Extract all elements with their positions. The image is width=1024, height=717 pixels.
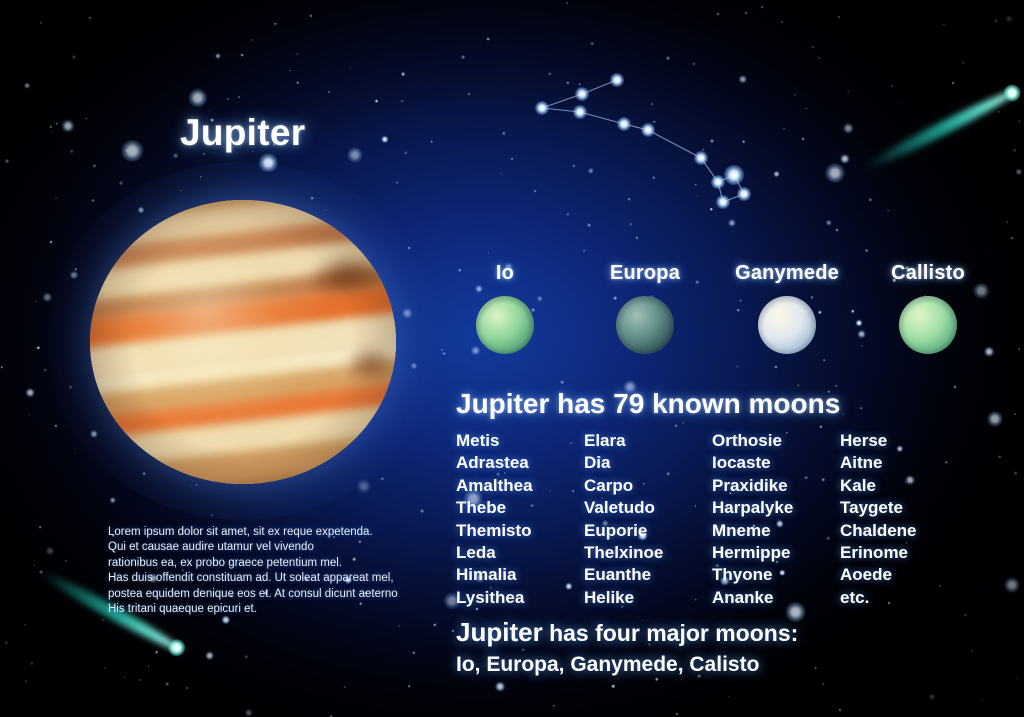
constellation-star [535,101,549,115]
major-moon-io: Io [440,262,570,354]
moon-name-item: Helike [584,587,663,609]
constellation-star [711,175,725,189]
description-paragraph: Lorem ipsum dolor sit amet, sit ex reque… [108,525,413,617]
moon-name-item: Taygete [840,497,917,519]
moon-name-item: Iocaste [712,452,793,474]
major-moon-sphere [476,296,534,354]
major-moon-label: Europa [580,262,710,285]
constellation-star [716,195,730,209]
footer-line-1-rest: has four major moons: [543,620,799,646]
constellation-star [617,117,631,131]
constellation-star [573,105,587,119]
footer-line-1: Jupiter has four major moons: [456,617,798,648]
moon-name-item: Aitne [840,452,917,474]
moon-name-item: Euporie [584,520,663,542]
constellation-star [610,73,624,87]
jupiter-shading [90,200,396,484]
moon-name-item: Themisto [456,520,533,542]
moon-name-item: Chaldene [840,520,917,542]
moon-shading [476,296,534,354]
moon-name-item: Harpalyke [712,497,793,519]
moon-name-item: Amalthea [456,475,533,497]
constellation-star [737,187,751,201]
moon-name-item: Euanthe [584,564,663,586]
moon-name-item: Lysithea [456,587,533,609]
jupiter-planet [78,196,408,486]
moon-name-item: Elara [584,430,663,452]
moon-name-item: Dia [584,452,663,474]
moon-shading [899,296,957,354]
description-line: His tritani quaeque epicuri et. [108,602,413,617]
moon-name-item: Praxidike [712,475,793,497]
moon-name-item: Ananke [712,587,793,609]
constellation-star [724,165,744,185]
moon-name-item: Erinome [840,542,917,564]
footer-emphasis: Jupiter [456,617,543,647]
moon-shading [758,296,816,354]
major-moon-label: Io [440,262,570,285]
major-moon-sphere [899,296,957,354]
constellation-graphic [520,72,730,207]
moon-name-item: Aoede [840,564,917,586]
major-moon-label: Ganymede [722,262,852,285]
moon-name-item: Himalia [456,564,533,586]
footer-line-2: Io, Europa, Ganymede, Calisto [456,653,798,677]
constellation-star [641,123,655,137]
major-moon-ganymede: Ganymede [722,262,852,354]
moon-count-headline: Jupiter has 79 known moons [456,388,840,420]
constellation-star [694,151,708,165]
moon-column: MetisAdrasteaAmaltheaThebeThemistoLedaHi… [456,430,533,609]
constellation-star [575,87,589,101]
moon-name-item: Thebe [456,497,533,519]
moon-name-item: Hermippe [712,542,793,564]
major-moon-sphere [758,296,816,354]
constellation-lines [520,72,730,207]
description-line: Lorem ipsum dolor sit amet, sit ex reque… [108,525,413,540]
moon-name-item: Thelxinoe [584,542,663,564]
jupiter-sphere [90,200,396,484]
major-moon-sphere [616,296,674,354]
major-moons-row: IoEuropaGanymedeCallisto [440,262,1000,380]
major-moon-europa: Europa [580,262,710,354]
moon-column: HerseAitneKaleTaygeteChaldeneErinomeAoed… [840,430,917,609]
major-moon-callisto: Callisto [863,262,993,354]
description-line: Has duis offendit constituam ad. Ut sole… [108,571,413,586]
description-line: postea equidem denique eos et. At consul… [108,587,413,602]
page-title: Jupiter [180,112,305,154]
moon-name-item: Herse [840,430,917,452]
major-moon-label: Callisto [863,262,993,285]
moon-name-item: Thyone [712,564,793,586]
moon-name-item: Orthosie [712,430,793,452]
major-moons-footer: Jupiter has four major moons: Io, Europa… [456,617,798,677]
moon-name-item: Valetudo [584,497,663,519]
jupiter-infographic: Jupiter IoEuropaGanymedeCallisto Jupiter… [0,0,1024,717]
moon-name-item: Mneme [712,520,793,542]
moon-name-item: etc. [840,587,917,609]
description-line: Qui et causae audire utamur vel vivendo [108,540,413,555]
moon-name-item: Adrastea [456,452,533,474]
moon-name-item: Leda [456,542,533,564]
moon-column: OrthosieIocastePraxidikeHarpalykeMnemeHe… [712,430,793,609]
moon-column: ElaraDiaCarpoValetudoEuporieThelxinoeEua… [584,430,663,609]
moon-shading [616,296,674,354]
description-line: rationibus ea, ex probo graece petentium… [108,556,413,571]
moon-name-item: Carpo [584,475,663,497]
moon-name-item: Metis [456,430,533,452]
moon-name-item: Kale [840,475,917,497]
